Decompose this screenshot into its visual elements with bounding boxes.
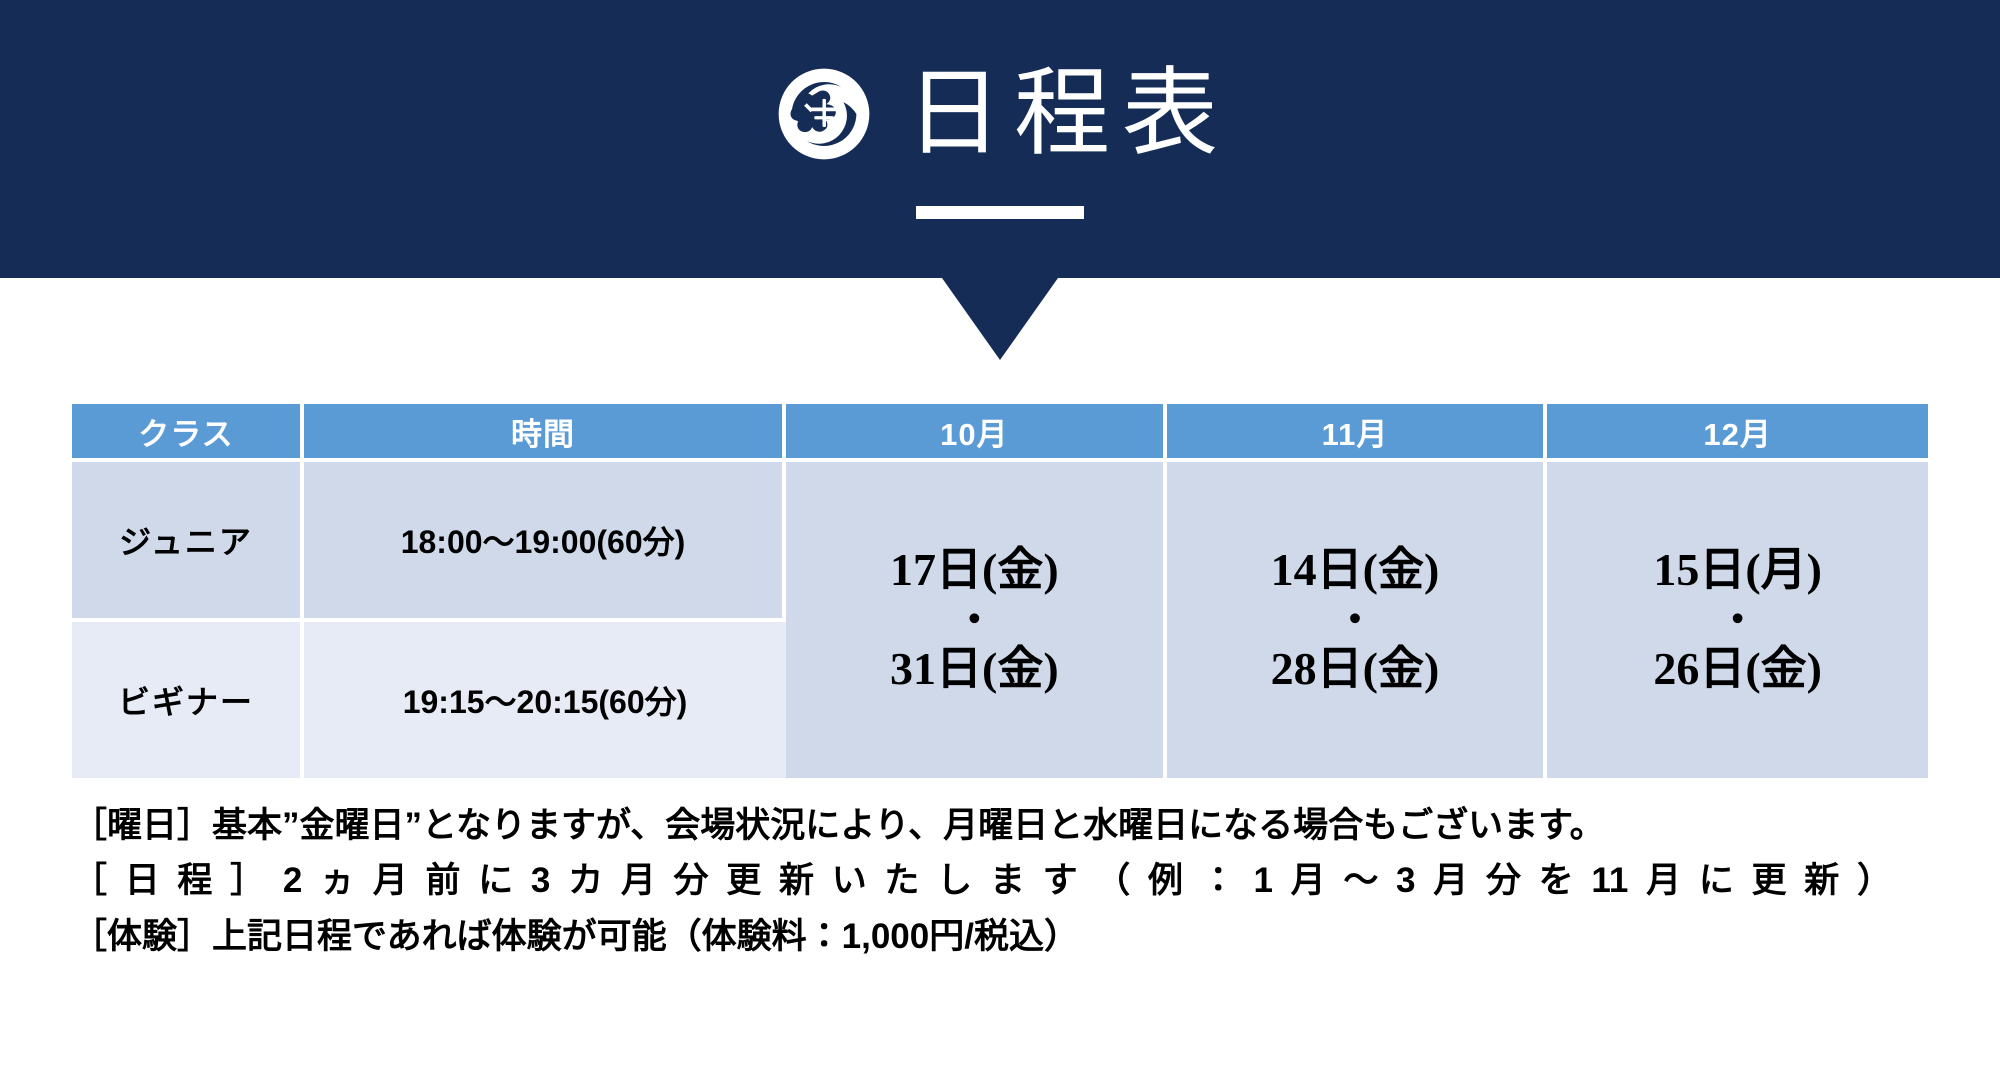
column-header-november: 11月 [1167, 404, 1548, 462]
header-content: 日程表 [0, 0, 2000, 288]
down-triangle-pointer [942, 278, 1058, 360]
date-separator-october: ・ [786, 603, 1163, 637]
column-header-october: 10月 [786, 404, 1167, 462]
title-underline [916, 206, 1084, 219]
cell-class-beginner: ビギナー [72, 622, 304, 782]
schedule-table-body: ジュニア 18:00〜19:00(60分) 17日(金) ・ 31日(金) 14… [72, 462, 1928, 782]
column-header-class: クラス [72, 404, 304, 462]
schedule-table-wrapper: クラス 時間 10月 11月 12月 ジュニア 18:00〜19:00(60分)… [72, 404, 1928, 782]
schedule-table-head: クラス 時間 10月 11月 12月 [72, 404, 1928, 462]
note-weekday: ［曜日］基本”金曜日”となりますが、会場状況により、月曜日と水曜日になる場合もご… [72, 798, 1934, 853]
date-separator-november: ・ [1167, 603, 1544, 637]
table-header-row: クラス 時間 10月 11月 12月 [72, 404, 1928, 462]
table-row: ジュニア 18:00〜19:00(60分) 17日(金) ・ 31日(金) 14… [72, 462, 1928, 622]
cell-dates-october: 17日(金) ・ 31日(金) [786, 462, 1167, 782]
title-row: 日程表 [770, 60, 1230, 168]
date-first-december: 15日(月) [1547, 540, 1928, 601]
page-header-banner: 日程表 [0, 0, 2000, 278]
date-separator-december: ・ [1547, 603, 1928, 637]
date-second-november: 28日(金) [1167, 639, 1544, 700]
cell-class-junior: ジュニア [72, 462, 304, 622]
cell-time-beginner: 19:15〜20:15(60分) [304, 622, 786, 782]
circular-crest-icon [770, 60, 878, 168]
column-header-december: 12月 [1547, 404, 1928, 462]
cell-dates-december: 15日(月) ・ 26日(金) [1547, 462, 1928, 782]
date-second-october: 31日(金) [786, 639, 1163, 700]
date-second-december: 26日(金) [1547, 639, 1928, 700]
note-trial: ［体験］上記日程であれば体験が可能（体験料：1,000円/税込） [72, 909, 1934, 964]
date-first-november: 14日(金) [1167, 540, 1544, 601]
notes-section: ［曜日］基本”金曜日”となりますが、会場状況により、月曜日と水曜日になる場合もご… [0, 798, 2000, 964]
date-first-october: 17日(金) [786, 540, 1163, 601]
cell-time-junior: 18:00〜19:00(60分) [304, 462, 786, 622]
schedule-table: クラス 時間 10月 11月 12月 ジュニア 18:00〜19:00(60分)… [72, 404, 1928, 782]
page-title: 日程表 [900, 66, 1230, 162]
note-schedule: ［日程］2ヵ月前に3カ月分更新いたします（例：1月〜3月分を11月に更新） [72, 853, 1892, 908]
cell-dates-november: 14日(金) ・ 28日(金) [1167, 462, 1548, 782]
column-header-time: 時間 [304, 404, 786, 462]
